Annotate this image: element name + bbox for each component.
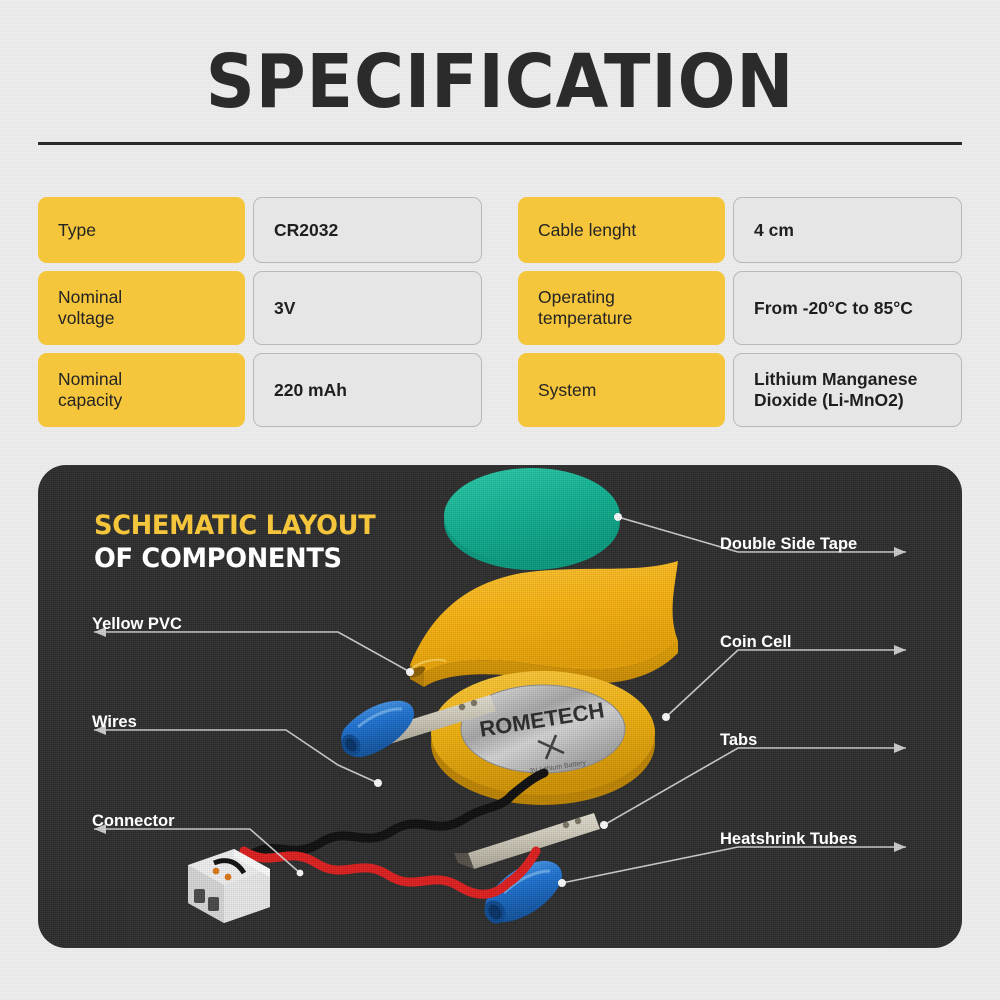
spec-value-text: 220 mAh	[274, 380, 347, 401]
callout-label-double-side-tape: Double Side Tape	[720, 535, 857, 554]
spec-value-text: From -20°C to 85°C	[754, 298, 913, 319]
spec-label-text: Type	[58, 220, 96, 241]
table-row: Operating temperature From -20°C to 85°C	[518, 271, 962, 345]
table-row: Nominal voltage 3V	[38, 271, 482, 345]
spec-label-text: Operating temperature	[538, 287, 632, 329]
spec-label-type: Type	[38, 197, 245, 263]
title-divider	[38, 142, 962, 145]
spec-value-nominal-voltage: 3V	[253, 271, 482, 345]
arrowhead-right	[894, 547, 906, 557]
spec-label-operating-temperature: Operating temperature	[518, 271, 725, 345]
schematic-panel: ROMETECH 3V Lithium Battery	[38, 465, 962, 948]
spec-label-system: System	[518, 353, 725, 427]
callout-label-connector: Connector	[92, 812, 175, 831]
line-2: voltage	[58, 308, 114, 328]
table-row: Nominal capacity 220 mAh	[38, 353, 482, 427]
spec-label-cable-lenght: Cable lenght	[518, 197, 725, 263]
arrowhead-right	[894, 743, 906, 753]
spec-value-system: Lithium Manganese Dioxide (Li-MnO2)	[733, 353, 962, 427]
spec-label-text: Nominal capacity	[58, 369, 122, 411]
schematic-heading-line1: SCHEMATIC LAYOUT	[94, 509, 375, 542]
table-row: Cable lenght 4 cm	[518, 197, 962, 263]
page-title: SPECIFICATION	[40, 44, 960, 120]
callout-label-heatshrink-tubes: Heatshrink Tubes	[720, 830, 857, 849]
spec-value-text: 3V	[274, 298, 295, 319]
arrowhead-right	[894, 842, 906, 852]
spec-value-nominal-capacity: 220 mAh	[253, 353, 482, 427]
spec-value-type: CR2032	[253, 197, 482, 263]
spec-value-operating-temperature: From -20°C to 85°C	[733, 271, 962, 345]
callout-label-tabs: Tabs	[720, 731, 757, 750]
spec-value-text: CR2032	[274, 220, 338, 241]
spec-value-cable-lenght: 4 cm	[733, 197, 962, 263]
double-side-tape-graphic	[444, 468, 620, 570]
schematic-heading-line2: OF COMPONENTS	[94, 542, 375, 575]
callout-label-coin-cell: Coin Cell	[720, 633, 792, 652]
line-2: temperature	[538, 308, 632, 328]
spec-label-nominal-voltage: Nominal voltage	[38, 271, 245, 345]
spec-value-text: 4 cm	[754, 220, 794, 241]
spec-value-text: Lithium Manganese Dioxide (Li-MnO2)	[754, 369, 917, 411]
heatshrink-tube-upper-graphic	[338, 701, 414, 759]
yellow-pvc-graphic	[407, 561, 678, 687]
line-2: Dioxide (Li-MnO2)	[754, 390, 904, 410]
spec-label-text: Cable lenght	[538, 220, 636, 241]
coin-cell-graphic: ROMETECH 3V Lithium Battery	[431, 671, 655, 805]
arrowhead-right	[894, 645, 906, 655]
table-row: System Lithium Manganese Dioxide (Li-MnO…	[518, 353, 962, 427]
specification-table: Type CR2032 Cable lenght 4 cm Nominal vo…	[38, 197, 962, 427]
table-row: Type CR2032	[38, 197, 482, 263]
callout-label-yellow-pvc: Yellow PVC	[92, 615, 182, 634]
spec-label-text: Nominal voltage	[58, 287, 122, 329]
line-1: Nominal	[58, 369, 122, 389]
line-2: capacity	[58, 390, 122, 410]
spec-label-text: System	[538, 380, 596, 401]
line-1: Nominal	[58, 287, 122, 307]
callout-label-wires: Wires	[92, 713, 137, 732]
schematic-heading: SCHEMATIC LAYOUT OF COMPONENTS	[94, 509, 375, 575]
line-1: Operating	[538, 287, 615, 307]
spec-label-nominal-capacity: Nominal capacity	[38, 353, 245, 427]
line-1: Lithium Manganese	[754, 369, 917, 389]
